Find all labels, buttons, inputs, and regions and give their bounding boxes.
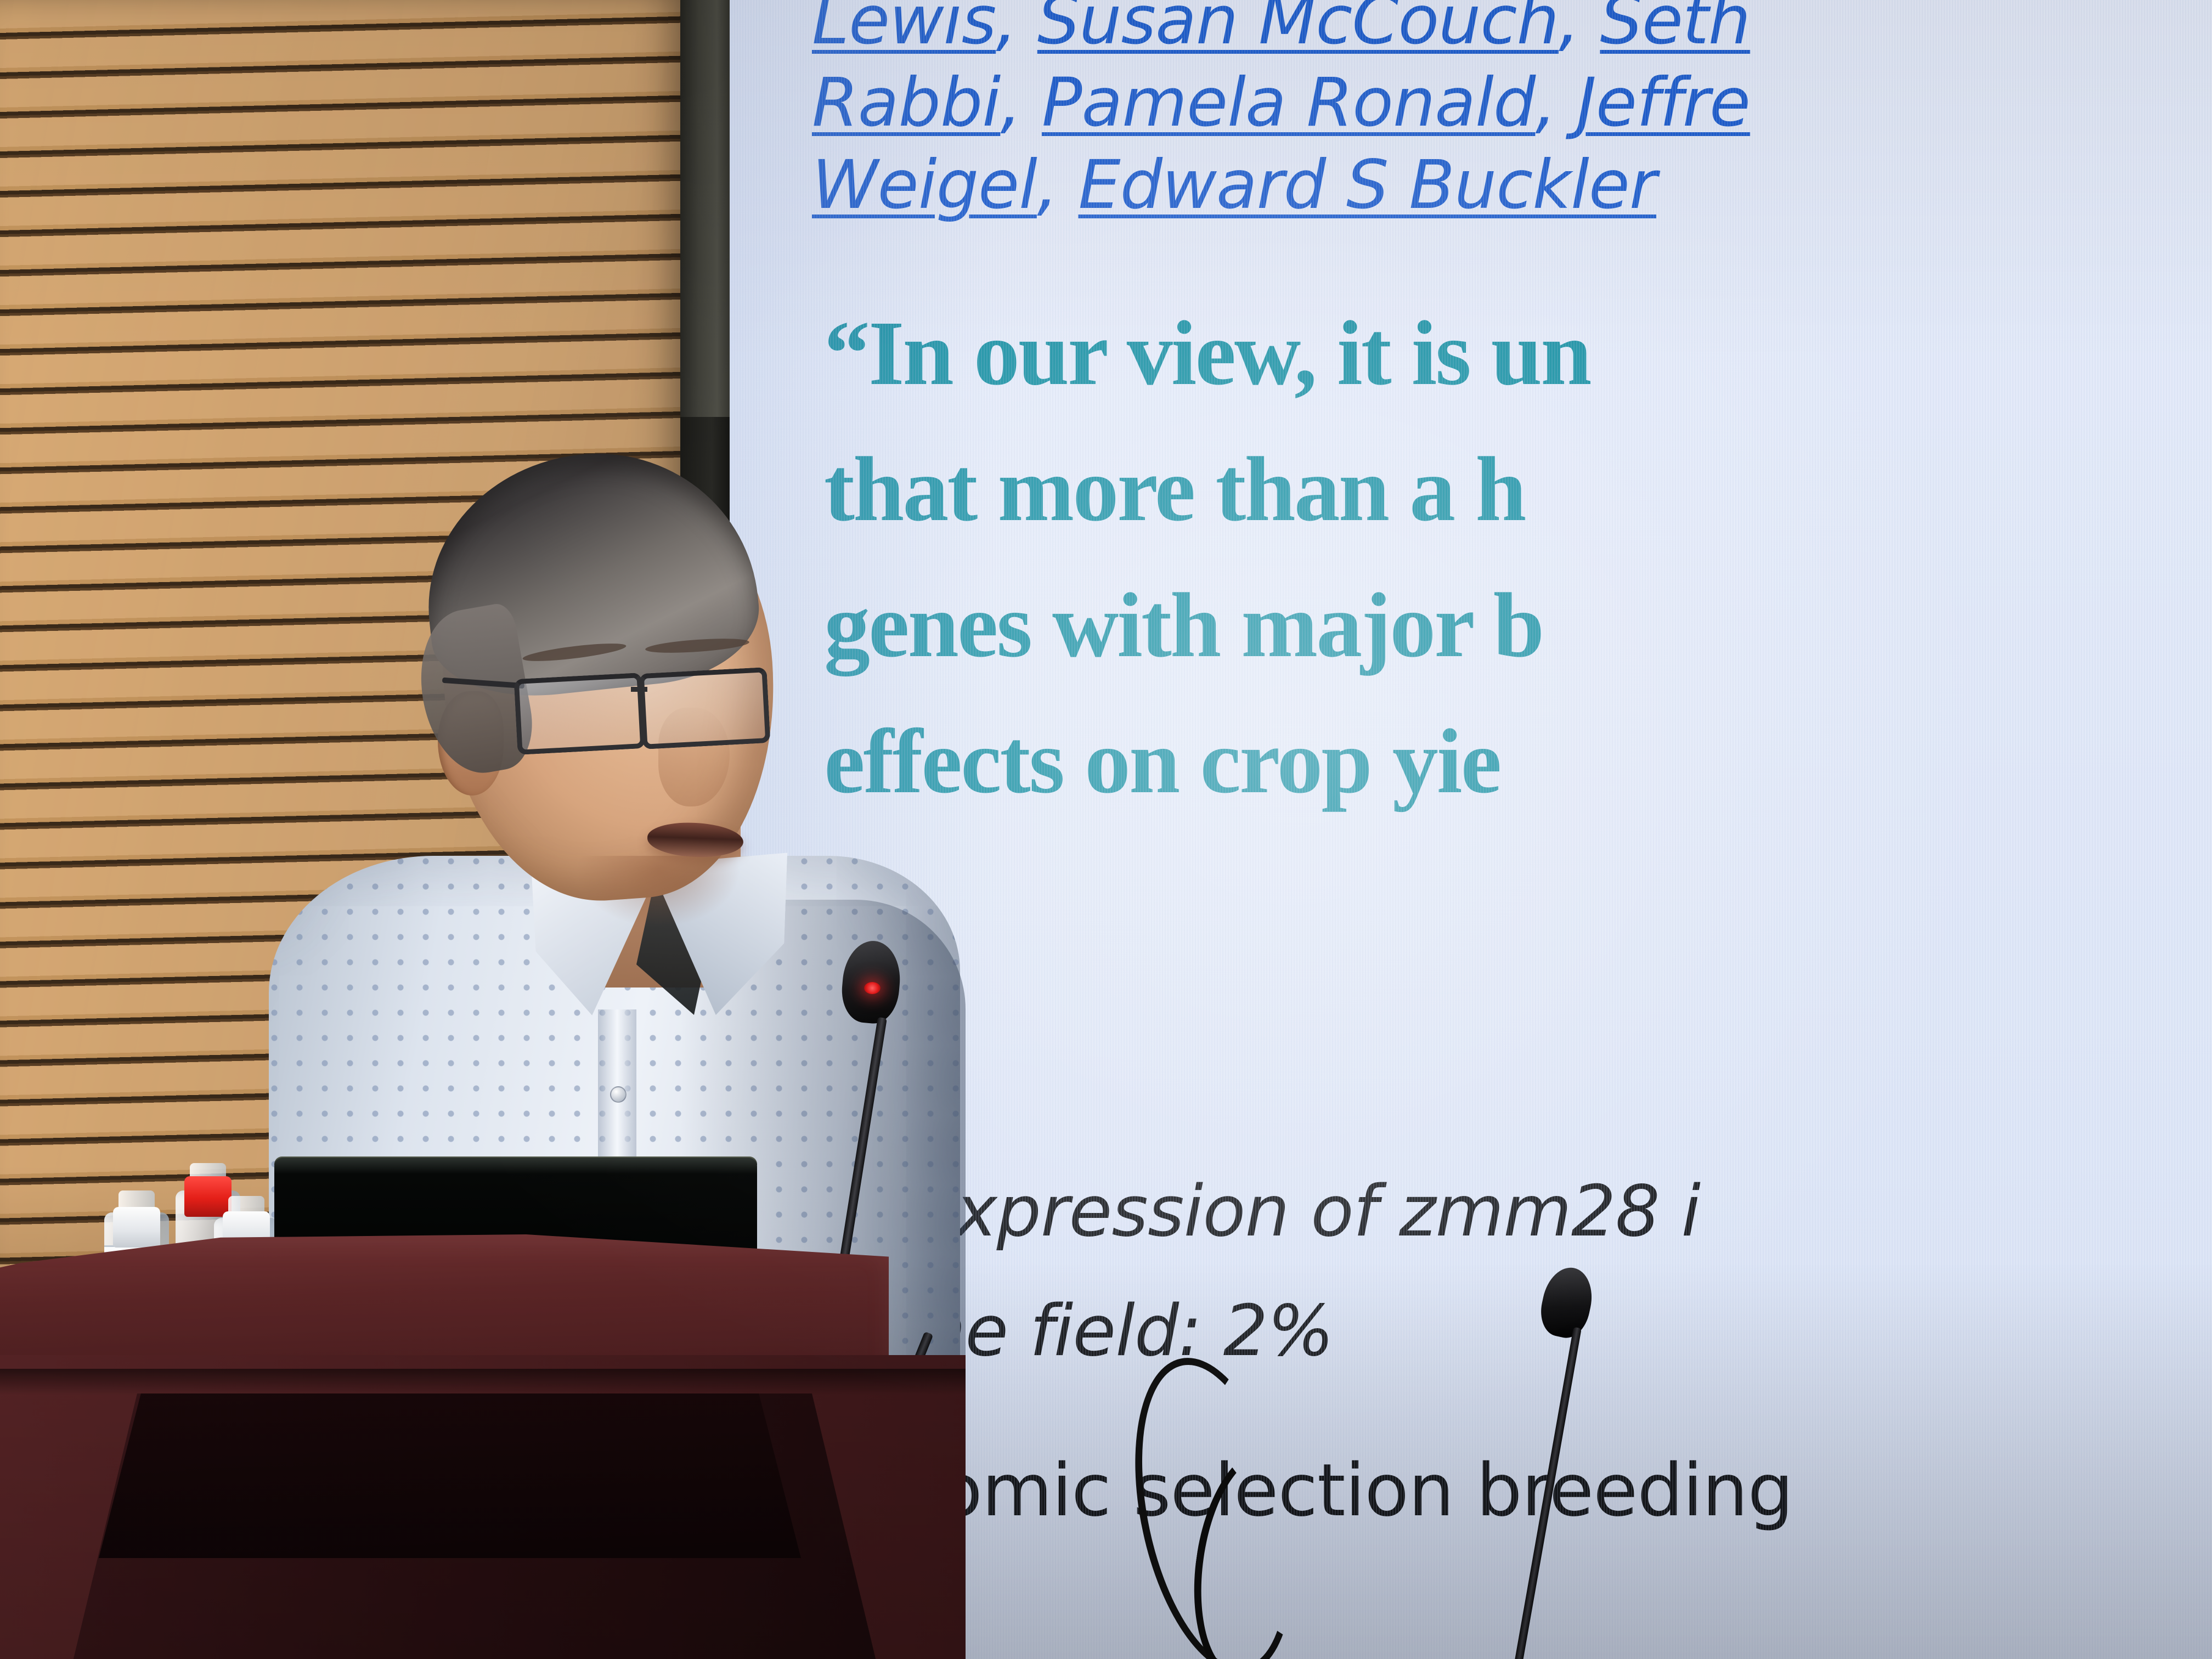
glasses-lens-right	[639, 667, 771, 749]
slide-bottom-line: omic selection breeding	[938, 1448, 1793, 1533]
presentation-photo-scene: Lewis, Susan McCouch, Seth Rabbi, Pamela…	[0, 0, 2212, 1659]
slide-author-list: Lewis, Susan McCouch, Seth Rabbi, Pamela…	[812, 0, 1750, 226]
author-line-1: Lewis, Susan McCouch, Seth	[812, 0, 1750, 61]
author-link: Jeffre	[1577, 64, 1750, 142]
author-line-3: Weigel, Edward S Buckler	[812, 144, 1750, 226]
author-separator: ,	[1535, 64, 1577, 142]
author-link: Edward S Buckler	[1079, 146, 1657, 224]
glasses-bridge	[631, 687, 647, 692]
speaker-chin-shadow	[576, 856, 741, 927]
author-link: Susan McCouch	[1037, 0, 1559, 59]
author-link: Pamela Ronald	[1042, 64, 1536, 142]
microphone-led-indicator	[864, 982, 881, 994]
author-link: Seth	[1600, 0, 1750, 59]
author-separator: ,	[1037, 146, 1079, 224]
author-link: Weigel	[812, 146, 1037, 224]
quote-line-1: “In our view, it is un	[824, 285, 1590, 421]
author-line-2: Rabbi, Pamela Ronald, Jeffre	[812, 61, 1750, 144]
author-link: Lewis	[812, 0, 996, 59]
author-separator: ,	[1559, 0, 1600, 59]
shirt-button	[610, 1086, 627, 1103]
podium-lip-shadow	[0, 1369, 966, 1395]
glasses-lens-left	[514, 673, 646, 755]
author-link: Rabbi	[812, 64, 1000, 142]
podium-recess-shadow	[99, 1393, 801, 1558]
author-separator: ,	[1000, 64, 1042, 142]
author-separator: ,	[996, 0, 1037, 59]
